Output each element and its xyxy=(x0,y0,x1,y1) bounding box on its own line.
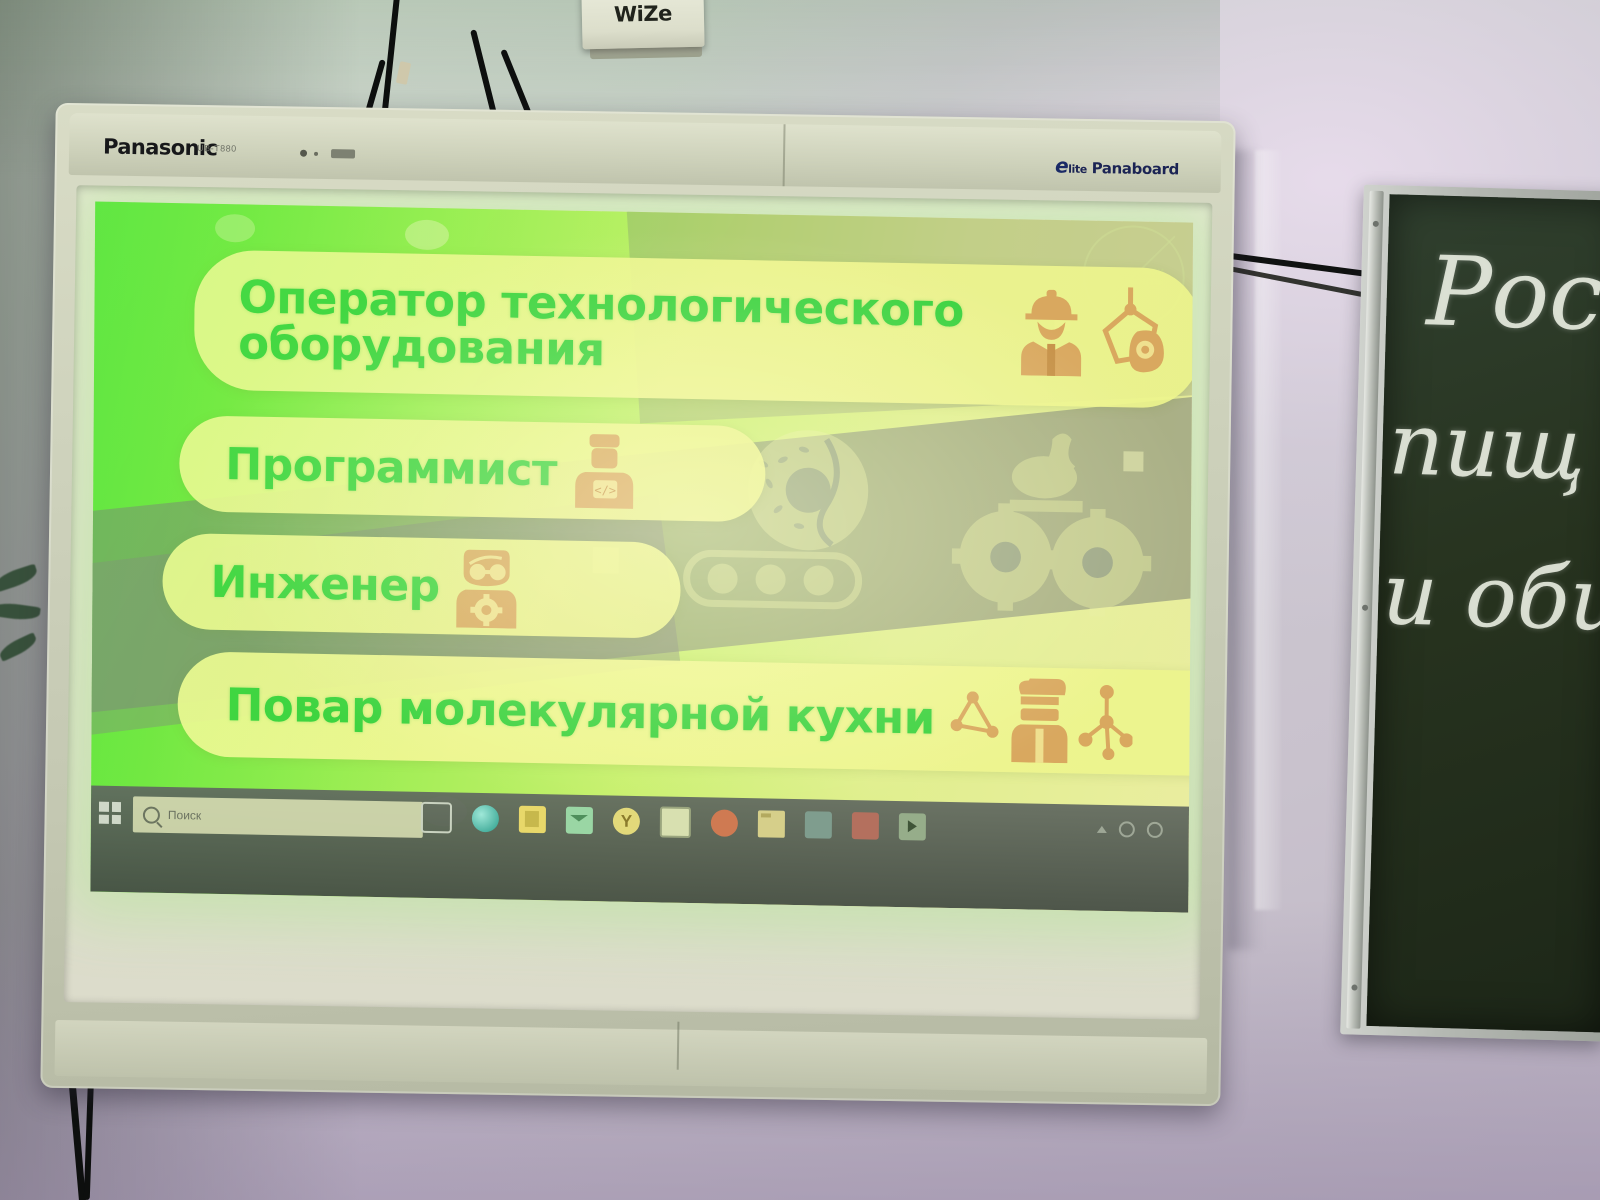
search-icon xyxy=(143,806,160,823)
document-icon[interactable] xyxy=(660,806,691,838)
panaboard-logo-lite: lite xyxy=(1068,163,1087,176)
pen-tray-seam xyxy=(677,1022,680,1070)
svg-text:</>: </> xyxy=(594,483,616,497)
interactive-whiteboard[interactable]: Panasonic UB-T880 elite Panaboard xyxy=(40,103,1235,1106)
chalkboard-surface: Рос пищ и общ xyxy=(1366,194,1600,1032)
edge-icon[interactable] xyxy=(472,805,499,833)
power-indicator-icon xyxy=(300,150,307,157)
conveyor-belt-icon xyxy=(682,543,862,616)
chalk-line-1: Рос xyxy=(1425,235,1600,352)
chalk-line-2: пищ xyxy=(1387,394,1587,499)
wize-brand-label: WiZe xyxy=(582,1,704,28)
folder-icon[interactable] xyxy=(758,810,785,838)
control-strip[interactable] xyxy=(331,149,355,158)
option-pill-engineer-icons xyxy=(455,545,518,628)
gears-icon xyxy=(932,418,1164,652)
option-pill-programmer-icons: </> xyxy=(573,432,636,511)
whiteboard-model-number: UB-T880 xyxy=(197,143,237,154)
app-red-icon[interactable] xyxy=(852,812,879,840)
app-blue-icon[interactable] xyxy=(805,811,832,839)
search-input[interactable]: Поиск xyxy=(133,796,423,838)
media-player-icon[interactable] xyxy=(899,813,926,841)
molecule-triangle-icon xyxy=(951,691,1001,748)
start-button[interactable] xyxy=(99,802,121,824)
chalkboard: Рос пищ и общ xyxy=(1340,185,1600,1042)
opera-icon[interactable] xyxy=(711,809,738,837)
yandex-icon[interactable]: Y xyxy=(613,808,640,836)
panaboard-logo-name: Panaboard xyxy=(1092,159,1179,178)
search-placeholder: Поиск xyxy=(168,808,201,823)
option-pill-programmer[interactable]: Программист </> xyxy=(179,415,766,522)
decor-blob-1 xyxy=(405,219,449,250)
projected-slide: НОВЫЕ МОИ ГОРИЗОНТЫ Оператор технологиче… xyxy=(90,202,1193,913)
option-pill-molecular-chef-icons xyxy=(950,677,1133,764)
system-tray[interactable] xyxy=(1097,821,1175,838)
option-pill-engineer[interactable]: Инженер xyxy=(162,533,681,639)
chalk-line-3: и общ xyxy=(1381,544,1600,652)
option-pill-engineer-label: Инженер xyxy=(210,556,439,611)
show-hidden-icons-icon[interactable] xyxy=(1097,825,1107,832)
windows-taskbar[interactable]: Поиск Y xyxy=(90,786,1189,913)
volume-icon[interactable] xyxy=(1147,822,1163,838)
bezel-seam xyxy=(783,124,786,186)
taskbar-icons: Y xyxy=(421,802,926,843)
option-pill-operator-icons xyxy=(1019,283,1168,378)
mail-icon[interactable] xyxy=(566,807,593,835)
option-pill-molecular-chef[interactable]: Повар молекулярной кухни xyxy=(177,651,1193,777)
option-pill-molecular-chef-label: Повар молекулярной кухни xyxy=(226,678,935,745)
worker-hardhat-icon xyxy=(1019,283,1084,376)
panaboard-logo: elite Panaboard xyxy=(1055,153,1179,179)
office-icon[interactable] xyxy=(519,806,546,834)
programmer-icon: </> xyxy=(573,432,636,511)
wize-device: ▪▪▪▪ WiZe xyxy=(581,0,704,49)
engineer-icon xyxy=(455,545,518,628)
classroom-scene: ▪▪▪▪ WiZe Panasonic UB-T880 elite Panabo… xyxy=(0,0,1600,1200)
robotic-crane-icon xyxy=(1093,285,1168,378)
task-view-icon[interactable] xyxy=(421,802,452,834)
whiteboard-surface[interactable]: НОВЫЕ МОИ ГОРИЗОНТЫ Оператор технологиче… xyxy=(64,185,1213,1020)
chef-icon xyxy=(1010,678,1069,763)
option-pill-programmer-label: Программист xyxy=(225,439,557,496)
status-indicator-icon xyxy=(314,152,318,156)
option-pill-operator[interactable]: Оператор технологического оборудования xyxy=(194,249,1193,408)
decor-blob-2 xyxy=(215,214,255,243)
molecule-chain-icon xyxy=(1079,683,1134,760)
network-icon[interactable] xyxy=(1119,821,1135,837)
panaboard-logo-e: e xyxy=(1055,153,1069,177)
